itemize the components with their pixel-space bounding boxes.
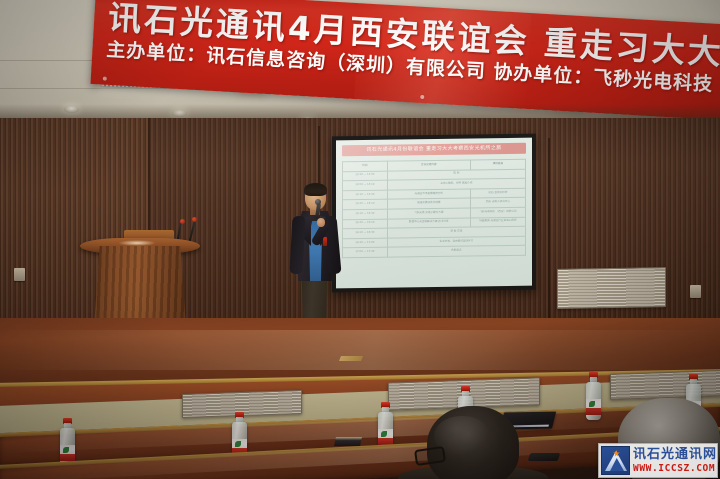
projection-screen-frame: 讯石光通讯4月份联谊会 重走习大大考察西安光机所之旅 时间 会议议程内容 演讲嘉…	[332, 134, 536, 293]
podium-microphone-head	[192, 217, 197, 222]
mobile-phone	[528, 453, 561, 461]
banner-eyelet	[103, 77, 107, 81]
podium-highlight	[118, 240, 156, 246]
bottle-label	[60, 445, 75, 461]
bottle-label-green-mark	[63, 447, 69, 453]
bottle-label	[378, 429, 393, 445]
conference-photo: 讯石光通讯4月西安联谊会 重走习大大之 主办单位：讯石信息咨询（深圳）有限公司 …	[0, 0, 720, 479]
mountain-star-logo-icon	[601, 446, 630, 475]
presenter-badge	[323, 237, 327, 246]
slide-agenda-table: 时间 会议议程内容 演讲嘉宾 13:30 — 14:00 签 到 14:00 —…	[342, 159, 526, 259]
water-bottle	[60, 418, 75, 466]
bottle-label	[586, 399, 601, 415]
audience-member-head-dark-hair	[427, 406, 519, 479]
presenter-hand	[317, 218, 325, 227]
water-bottle	[586, 372, 601, 420]
watermark-site-name: 讯石光通讯网	[633, 448, 717, 461]
bottle-label-green-mark	[235, 441, 241, 447]
podium-microphone-head	[180, 219, 185, 224]
bottle-label-green-mark	[381, 431, 387, 437]
wall-socket-plate	[690, 285, 701, 298]
slide-agenda-body: 时间 会议议程内容 演讲嘉宾 13:30 — 14:00 签 到 14:00 —…	[343, 159, 526, 257]
bottle-label-green-mark	[589, 401, 595, 407]
watermark-url: WWW.ICCSZ.COM	[633, 464, 717, 474]
bottle-label-red-band	[60, 454, 75, 461]
watermark-text-block: 讯石光通讯网 WWW.ICCSZ.COM	[633, 448, 717, 474]
handheld-microphone-head	[315, 199, 321, 205]
stage-floor-reflection	[0, 330, 720, 370]
paper-on-stage	[339, 356, 363, 361]
projection-screen: 讯石光通讯4月份联谊会 重走习大大考察西安光机所之旅 时间 会议议程内容 演讲嘉…	[336, 138, 532, 289]
bottle-label-red-band	[586, 408, 601, 415]
front-air-vent	[610, 370, 720, 400]
wall-socket-plate	[14, 268, 25, 281]
wall-air-vent	[557, 267, 666, 309]
cell-item: 合影留念	[387, 246, 525, 258]
table-row: 17:00 — 17:30 合影留念	[343, 246, 526, 258]
cell-time: 17:00 — 17:30	[343, 247, 388, 257]
site-watermark: 讯石光通讯网 WWW.ICCSZ.COM	[598, 443, 718, 478]
slide-title: 讯石光通讯4月份联谊会 重走习大大考察西安光机所之旅	[342, 143, 526, 157]
notebook	[334, 437, 362, 446]
presenter-hair	[304, 183, 327, 196]
banner-eyelet	[420, 95, 424, 99]
water-bottle	[378, 402, 393, 450]
